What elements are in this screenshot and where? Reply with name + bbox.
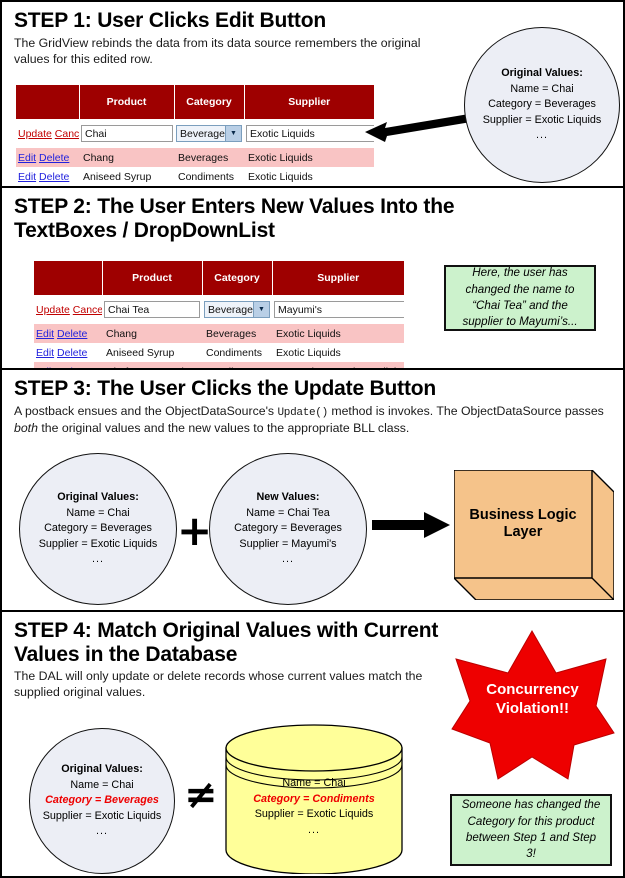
bubble-ellipsis: ... — [282, 553, 294, 565]
bubble-line-2-highlight: Category = Beverages — [45, 794, 159, 806]
column-header-supplier: Supplier — [272, 261, 404, 295]
bubble-heading: New Values: — [256, 491, 319, 503]
cell-category: Condiments — [174, 167, 244, 186]
step-4-callout-text: Someone has changed the Category for thi… — [452, 797, 610, 863]
desc-part-2: method is invokes. The ObjectDataSource … — [328, 404, 604, 418]
cell-product: Chang — [79, 148, 174, 167]
table-row: Edit Delete Chang Beverages Exotic Liqui… — [34, 324, 404, 343]
chevron-down-icon[interactable]: ▼ — [225, 126, 241, 141]
desc-code: Update() — [277, 407, 327, 419]
star-label-line-1: Concurrency — [486, 681, 579, 698]
original-values-bubble-step1: Original Values: Name = Chai Category = … — [464, 27, 620, 183]
row-commands: Edit Delete — [16, 148, 79, 167]
step-2-title: STEP 2: The User Enters New Values Into … — [2, 188, 494, 242]
original-values-bubble-step3: Original Values: Name = Chai Category = … — [19, 453, 177, 605]
cell-product: Chef Anton's Cajun — [102, 362, 202, 370]
table-row: Edit Delete Aniseed Syrup Condiments Exo… — [16, 167, 374, 186]
concurrency-violation-star: Concurrency Violation!! — [450, 629, 615, 781]
column-header-category: Category — [174, 85, 244, 119]
bubble-line-1: Name = Chai — [510, 83, 573, 95]
table-row: Edit Delete Chef Anton's Cajun Condiment… — [34, 362, 404, 370]
bubble-line-1: Name = Chai Tea — [246, 507, 330, 519]
supplier-textbox[interactable]: Exotic Liquids — [246, 125, 374, 142]
business-logic-layer-box: Business Logic Layer — [454, 470, 614, 600]
step-2-callout-text: Here, the user has changed the name to “… — [446, 265, 594, 331]
bubble-heading: Original Values: — [57, 491, 139, 503]
delete-link[interactable]: Delete — [39, 171, 69, 183]
step-4-callout: Someone has changed the Category for thi… — [450, 794, 612, 866]
desc-part-1: A postback ensues and the ObjectDataSour… — [14, 404, 277, 418]
delete-link[interactable]: Delete — [57, 347, 87, 359]
edit-row-product-cell: Chai — [79, 119, 174, 148]
cell-product: Aniseed Syrup — [79, 167, 174, 186]
database-cylinder: Name = Chai Category = Condiments Suppli… — [224, 724, 404, 874]
bubble-line-2: Category = Beverages — [488, 98, 596, 110]
product-textbox[interactable]: Chai Tea — [104, 301, 200, 318]
update-link[interactable]: Update — [36, 304, 70, 316]
column-header-commands — [16, 85, 79, 119]
column-header-product: Product — [79, 85, 174, 119]
bubble-line-2: Category = Beverages — [44, 522, 152, 534]
category-dropdown-wrap: Beverages ▼ — [204, 301, 270, 318]
edit-row-supplier-cell: Exotic Liquids — [244, 119, 374, 148]
cancel-link[interactable]: Cancel — [73, 304, 102, 316]
step-1-panel: STEP 1: User Clicks Edit Button The Grid… — [2, 2, 623, 188]
bubble-ellipsis: ... — [92, 553, 104, 565]
cell-category: Condiments — [202, 362, 272, 370]
edit-row-product-cell: Chai Tea — [102, 295, 202, 324]
cell-category: Beverages — [202, 324, 272, 343]
database-values: Name = Chai Category = Condiments Suppli… — [224, 776, 404, 839]
row-commands: Edit Delete — [16, 167, 79, 186]
chevron-down-icon[interactable]: ▼ — [253, 302, 269, 317]
step-4-title: STEP 4: Match Original Values with Curre… — [2, 612, 454, 666]
gridview-header-row: Product Category Supplier — [16, 85, 374, 119]
gridview-step-1: Product Category Supplier Update Cancel … — [16, 85, 374, 188]
step-3-description: A postback ensues and the ObjectDataSour… — [2, 401, 623, 437]
product-textbox[interactable]: Chai — [81, 125, 173, 142]
desc-italic: both — [14, 421, 38, 435]
edit-row-category-cell: Beverages ▼ — [202, 295, 272, 324]
cell-category: Beverages — [174, 148, 244, 167]
edit-link[interactable]: Edit — [36, 328, 54, 340]
cell-supplier: Exotic Liquids — [272, 343, 404, 362]
cell-product: Chang — [102, 324, 202, 343]
right-arrow-icon — [372, 512, 450, 538]
bubble-line-3: Supplier = Exotic Liquids — [39, 538, 158, 550]
star-label-line-2: Violation!! — [496, 700, 569, 717]
plus-symbol: + — [177, 510, 212, 552]
original-values-bubble-step4: Original Values: Name = Chai Category = … — [29, 728, 175, 874]
step-3-title: STEP 3: The User Clicks the Update Butto… — [2, 370, 623, 401]
star-label: Concurrency Violation!! — [450, 681, 615, 719]
bubble-ellipsis: ... — [96, 825, 108, 837]
delete-link[interactable]: Delete — [57, 328, 87, 340]
bubble-line-1: Name = Chai — [66, 507, 129, 519]
cell-product: Aniseed Syrup — [102, 343, 202, 362]
bubble-line-3: Supplier = Exotic Liquids — [43, 810, 162, 822]
cell-supplier: Exotic Liquids — [244, 167, 374, 186]
edit-link[interactable]: Edit — [18, 152, 36, 164]
row-commands: Edit Delete — [34, 362, 102, 370]
bll-label: Business Logic Layer — [454, 470, 592, 578]
bubble-line-3: Supplier = Mayumi's — [239, 538, 336, 550]
cell-supplier: Exotic Liquids — [272, 324, 404, 343]
bubble-line-1: Name = Chai — [70, 779, 133, 791]
cell-supplier: New Orleans Cajun Delights — [272, 362, 404, 370]
step-3-panel: STEP 3: The User Clicks the Update Butto… — [2, 370, 623, 612]
cell-category: Condiments — [202, 343, 272, 362]
edit-link[interactable]: Edit — [18, 171, 36, 183]
edit-row-supplier-cell: Mayumi's — [272, 295, 404, 324]
new-values-bubble-step3: New Values: Name = Chai Tea Category = B… — [209, 453, 367, 605]
supplier-textbox[interactable]: Mayumi's — [274, 301, 404, 318]
cell-supplier: Exotic Liquids — [244, 148, 374, 167]
step-1-description: The GridView rebinds the data from its d… — [2, 33, 444, 67]
gridview-step-2: Product Category Supplier Update Cancel … — [34, 261, 404, 370]
gridview-edit-row: Update Cancel Chai Tea Beverages ▼ Mayum… — [34, 295, 404, 324]
not-equal-symbol: ≠ — [184, 775, 218, 815]
db-ellipsis: ... — [308, 824, 320, 836]
step-4-panel: STEP 4: Match Original Values with Curre… — [2, 612, 623, 876]
gridview-header-row: Product Category Supplier — [34, 261, 404, 295]
desc-part-3: the original values and the new values t… — [38, 421, 409, 435]
table-row: Edit Delete Chang Beverages Exotic Liqui… — [16, 148, 374, 167]
delete-link[interactable]: Delete — [39, 152, 69, 164]
edit-row-commands: Update Cancel — [16, 119, 79, 148]
column-header-supplier: Supplier — [244, 85, 374, 119]
bubble-heading: Original Values: — [61, 763, 143, 775]
category-dropdown-wrap: Beverages ▼ — [176, 125, 242, 142]
table-row: Edit Delete Aniseed Syrup Condiments Exo… — [34, 343, 404, 362]
db-line-1: Name = Chai — [282, 777, 345, 789]
column-header-product: Product — [102, 261, 202, 295]
db-line-2-highlight: Category = Condiments — [253, 793, 375, 805]
edit-link[interactable]: Edit — [36, 347, 54, 359]
row-commands: Edit Delete — [34, 324, 102, 343]
step-2-callout: Here, the user has changed the name to “… — [444, 265, 596, 331]
edit-row-commands: Update Cancel — [34, 295, 102, 324]
column-header-commands — [34, 261, 102, 295]
edit-row-category-cell: Beverages ▼ — [174, 119, 244, 148]
column-header-category: Category — [202, 261, 272, 295]
step-2-panel: STEP 2: The User Enters New Values Into … — [2, 188, 623, 370]
bubble-ellipsis: ... — [536, 129, 548, 141]
step-4-description: The DAL will only update or delete recor… — [2, 666, 460, 700]
bubble-heading: Original Values: — [501, 67, 583, 79]
update-link[interactable]: Update — [18, 128, 52, 140]
bubble-line-3: Supplier = Exotic Liquids — [483, 114, 602, 126]
row-commands: Edit Delete — [34, 343, 102, 362]
concurrency-diagram: STEP 1: User Clicks Edit Button The Grid… — [0, 0, 625, 878]
gridview-edit-row: Update Cancel Chai Beverages ▼ Exotic Li… — [16, 119, 374, 148]
bubble-line-2: Category = Beverages — [234, 522, 342, 534]
db-line-3: Supplier = Exotic Liquids — [255, 808, 374, 820]
cancel-link[interactable]: Cancel — [55, 128, 79, 140]
